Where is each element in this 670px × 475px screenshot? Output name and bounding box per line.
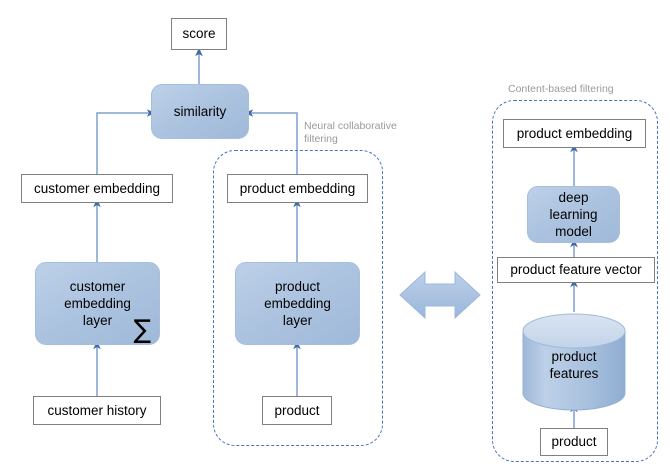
node-score-label: score [182,26,215,42]
node-product-feature-vector-label: product feature vector [510,262,641,278]
bidirectional-arrow [400,272,480,318]
node-deep-learning-model-label: deep learning model [549,189,597,241]
node-product-embedding-ncf-label: product embedding [240,181,356,197]
node-product-ncf[interactable]: product [262,396,332,425]
node-product-features-label: product features [523,348,625,383]
node-score[interactable]: score [171,18,227,50]
node-customer-embedding[interactable]: customer embedding [21,174,173,203]
node-product-embedding-cbf[interactable]: product embedding [503,119,646,148]
node-similarity[interactable]: similarity [151,84,249,139]
group-label-neural-collaborative-filtering: Neural collaborative filtering [304,120,424,146]
diagram-canvas: Neural collaborative filtering Content-b… [0,0,670,475]
node-product-embedding-layer-label: product embedding layer [264,278,331,330]
node-product-features[interactable]: product features [523,314,625,410]
node-customer-embedding-layer[interactable]: customer embedding layer ∑ [35,262,160,345]
node-customer-history-label: customer history [47,403,146,419]
edge-customer-embedding-to-similarity [97,113,151,176]
node-product-embedding-ncf[interactable]: product embedding [227,174,368,203]
node-customer-embedding-layer-label: customer embedding layer [64,278,131,330]
node-customer-history[interactable]: customer history [33,396,161,425]
node-similarity-label: similarity [174,103,227,120]
node-product-cbf-label: product [551,434,596,450]
node-deep-learning-model[interactable]: deep learning model [527,186,620,243]
group-label-content-based-filtering: Content-based filtering [508,83,668,96]
summation-icon: ∑ [133,317,151,343]
node-product-feature-vector[interactable]: product feature vector [497,257,655,283]
node-product-embedding-layer[interactable]: product embedding layer [235,262,360,345]
node-product-ncf-label: product [274,403,319,419]
node-customer-embedding-label: customer embedding [34,181,160,197]
node-product-cbf[interactable]: product [540,428,608,456]
node-product-embedding-cbf-label: product embedding [517,126,633,142]
